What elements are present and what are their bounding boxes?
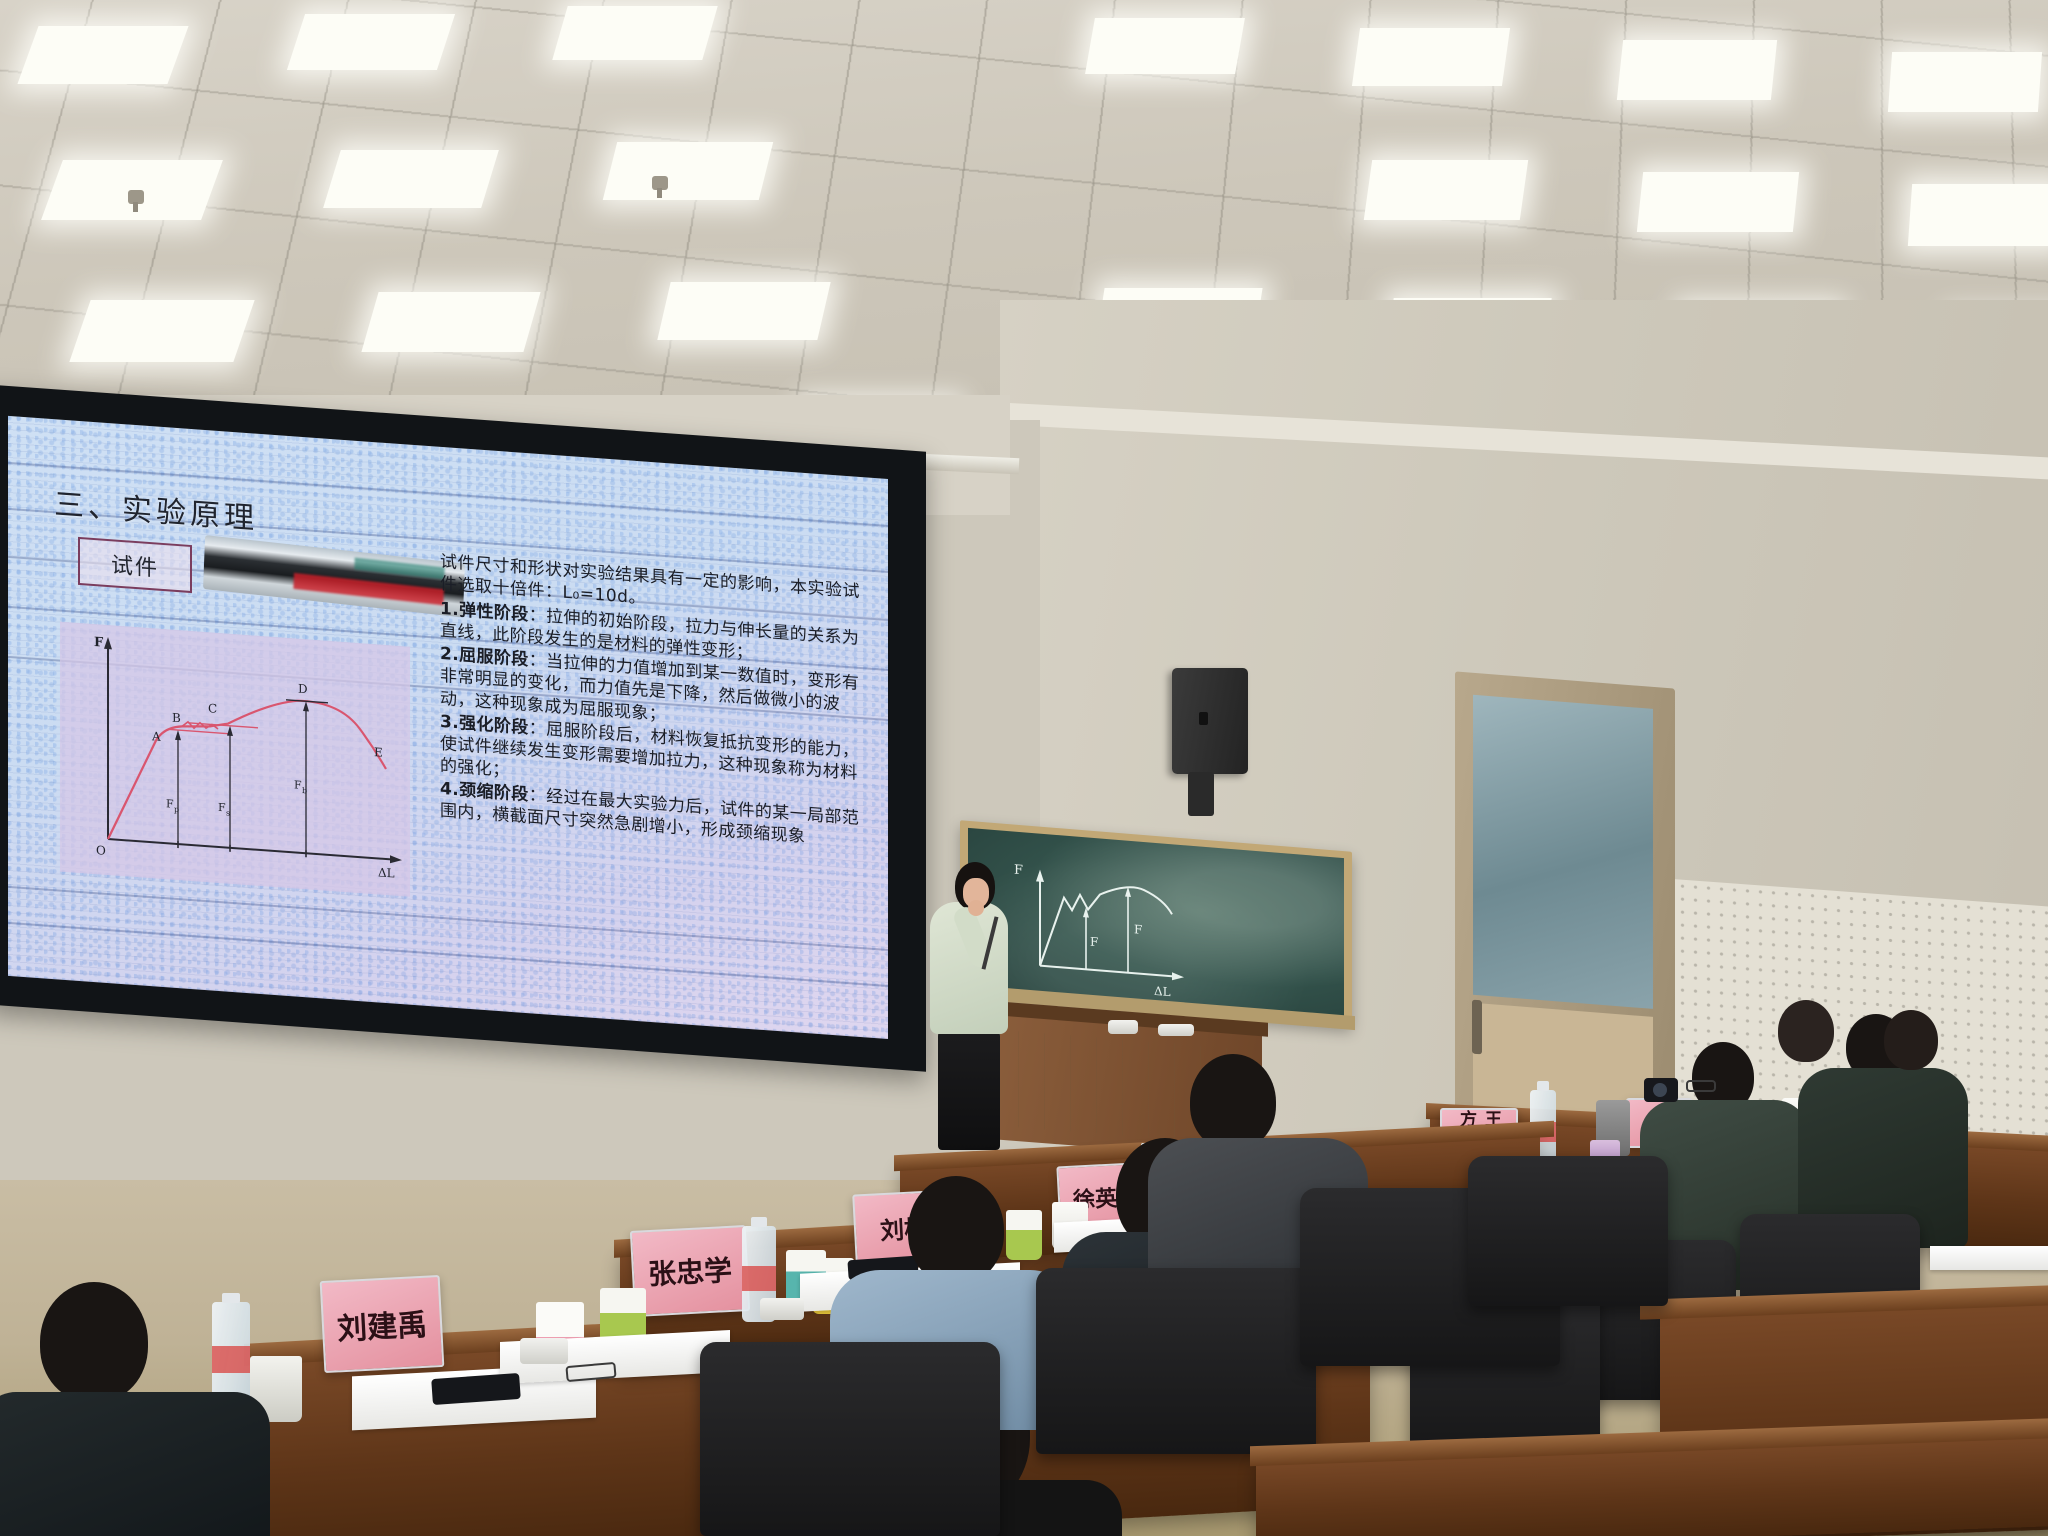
remote-control[interactable]	[760, 1298, 804, 1320]
door-glass	[1473, 695, 1653, 1009]
slide-item-3-term: 强化阶段	[459, 713, 529, 738]
svg-text:O: O	[96, 843, 106, 858]
door-handle[interactable]	[1472, 1000, 1482, 1055]
name-plate-zhang-zhongxue: 张忠学	[630, 1225, 750, 1317]
svg-text:s: s	[226, 809, 230, 818]
svg-text:b: b	[302, 786, 307, 795]
classroom-scene: 三、实验原理 试件	[0, 0, 2048, 1536]
chart-svg: F ΔL O A B C D E F p F s F b	[60, 622, 410, 897]
remote-control[interactable]	[520, 1338, 568, 1364]
slide-item-1-num: 1.	[440, 599, 459, 620]
specimen-red-marking	[293, 573, 444, 605]
stress-strain-chart: F ΔL O A B C D E F p F s F b	[60, 622, 410, 897]
projection-screen-frame: 三、实验原理 试件	[0, 384, 926, 1071]
eyeglasses	[1686, 1080, 1716, 1092]
smartphone-camera[interactable]	[1644, 1078, 1678, 1102]
svg-text:E: E	[374, 745, 383, 760]
slide-item-4-term: 颈缩阶段	[459, 780, 529, 805]
svg-text:A: A	[151, 729, 161, 744]
svg-text:p: p	[174, 805, 179, 814]
paper-cup[interactable]	[1006, 1210, 1042, 1260]
office-chair[interactable]	[1468, 1156, 1668, 1306]
svg-text:F: F	[294, 778, 302, 792]
specimen-green-marking	[354, 558, 444, 580]
wall-speaker-icon	[1172, 668, 1248, 774]
slide-item-3-num: 3.	[440, 712, 459, 733]
water-bottle[interactable]	[212, 1302, 250, 1406]
speaker-mount	[1188, 772, 1214, 816]
podium-device[interactable]	[1158, 1024, 1194, 1036]
slide-text-block: 试件尺寸和形状对实验结果具有一定的影响，本实验试件选取十倍件：L₀=10d。 1…	[440, 551, 860, 852]
slide-item-1-term: 弹性阶段	[459, 600, 529, 625]
door[interactable]	[1455, 671, 1675, 1148]
specimen-label-box: 试件	[78, 537, 192, 593]
svg-text:F: F	[218, 801, 226, 815]
name-plate-liu-jianyu: 刘建禹	[320, 1275, 445, 1373]
document-stack[interactable]	[1930, 1246, 2048, 1270]
svg-text:F: F	[94, 635, 104, 651]
office-chair[interactable]	[700, 1342, 1000, 1536]
svg-text:F: F	[166, 797, 174, 811]
presenter-legs	[938, 1028, 1000, 1150]
slide-item-4-num: 4.	[440, 779, 459, 800]
presenter-hand	[968, 900, 984, 916]
svg-text:D: D	[298, 682, 308, 697]
svg-text:ΔL: ΔL	[378, 865, 395, 880]
slide-item-2-term: 屈服阶段	[459, 646, 529, 671]
svg-text:B: B	[172, 711, 181, 726]
slide-item-2-num: 2.	[440, 644, 459, 665]
office-chair[interactable]	[1036, 1268, 1316, 1454]
microphone-receiver[interactable]	[1108, 1020, 1138, 1034]
projected-slide: 三、实验原理 试件	[8, 416, 888, 1039]
svg-text:C: C	[208, 701, 217, 716]
